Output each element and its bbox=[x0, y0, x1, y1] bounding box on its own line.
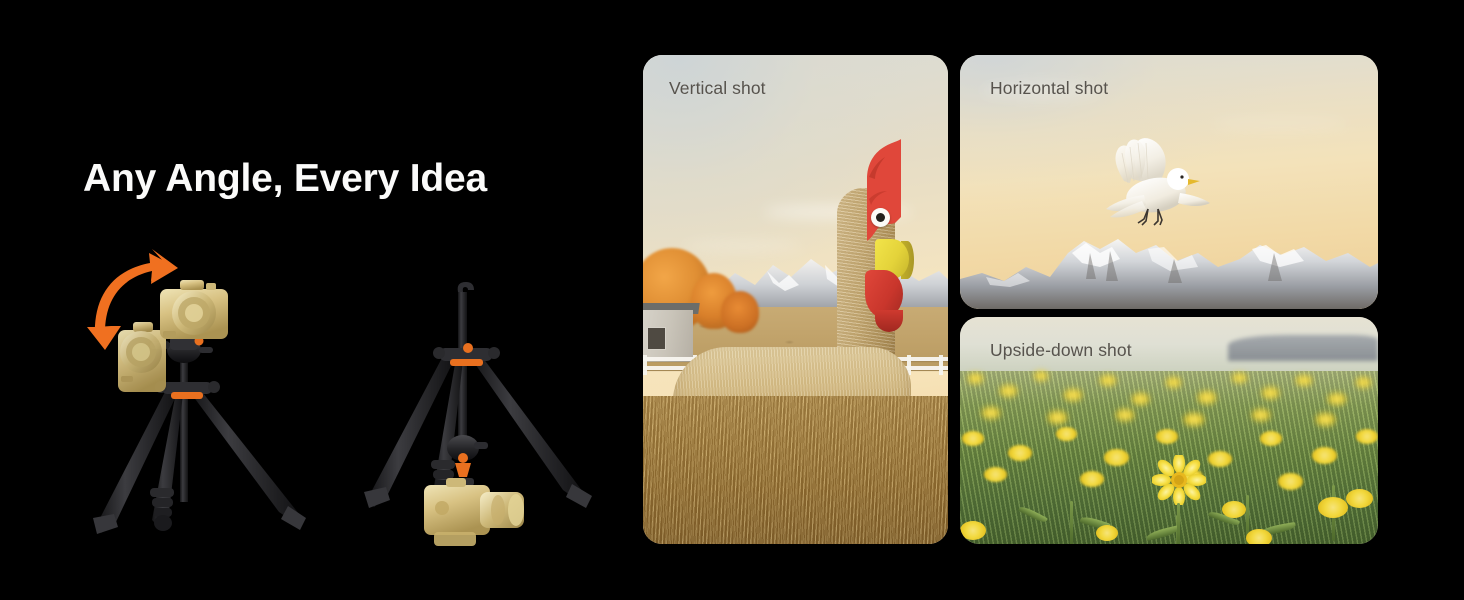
scene-haybale-chicken bbox=[643, 55, 948, 544]
cloud-wisp bbox=[1210, 117, 1350, 129]
tripod-illustration-group bbox=[0, 0, 620, 600]
hero-flower-stem bbox=[1177, 503, 1180, 544]
left-panel: Any Angle, Every Idea bbox=[0, 0, 620, 600]
promo-banner: Any Angle, Every Idea bbox=[0, 0, 1464, 600]
tripod-inverted-illustration bbox=[364, 282, 592, 546]
flower-band-far bbox=[960, 367, 1378, 429]
card-horizontal-shot[interactable]: Horizontal shot bbox=[960, 55, 1378, 309]
tripod-rotation-illustration bbox=[87, 249, 306, 534]
tripod-foot-left bbox=[93, 514, 118, 534]
tripod-leg-right bbox=[190, 388, 299, 522]
chicken-eye bbox=[871, 208, 890, 227]
card-upside-down-shot[interactable]: Upside-down shot bbox=[960, 317, 1378, 544]
tripod-column-hook bbox=[458, 282, 474, 292]
tripod-foot-center-rubber bbox=[150, 488, 174, 531]
camera-horizontal-main bbox=[160, 280, 228, 339]
card-label-vertical: Vertical shot bbox=[669, 78, 766, 99]
distant-ridge bbox=[1228, 335, 1378, 361]
autumn-tree-small bbox=[721, 291, 759, 333]
photo-gallery: Vertical shot bbox=[643, 55, 1378, 544]
tripod-leg-right bbox=[471, 354, 583, 500]
flying-dove bbox=[1082, 137, 1214, 233]
tripod-foot-left bbox=[364, 487, 390, 508]
card-label-upside-down: Upside-down shot bbox=[990, 340, 1132, 361]
tripod-center-column bbox=[180, 352, 188, 502]
card-vertical-shot[interactable]: Vertical shot bbox=[643, 55, 948, 544]
hero-flower bbox=[1152, 455, 1206, 505]
farm-shed-window bbox=[647, 327, 666, 350]
camera-inverted bbox=[424, 478, 524, 546]
cloud-wisp bbox=[683, 241, 803, 251]
card-label-horizontal: Horizontal shot bbox=[990, 78, 1108, 99]
dry-grass-foreground bbox=[643, 396, 948, 544]
camera-vertical-ghost bbox=[118, 322, 166, 392]
mountain-range bbox=[960, 223, 1378, 309]
